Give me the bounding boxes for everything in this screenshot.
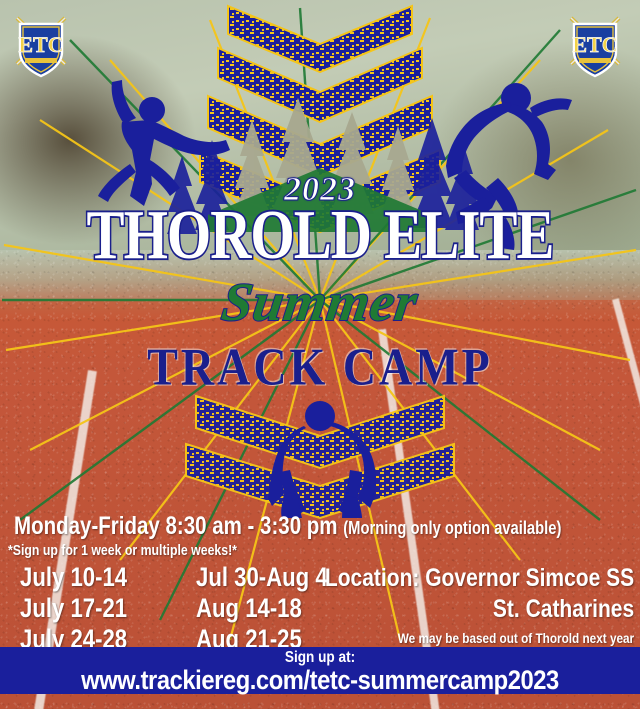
location-line-1: Location: Governor Simcoe SS [325, 564, 634, 593]
camp-hours-line: Monday-Friday 8:30 am - 3:30 pm (Morning… [14, 512, 561, 541]
logo-initials: ETC [18, 32, 63, 57]
script-word-summer: Summer [0, 271, 640, 333]
title-block: 2023 THOROLD ELITE Summer TRACK CAMP [0, 155, 640, 405]
shield-icon: ETC [17, 18, 65, 76]
signup-weeks-note: *Sign up for 1 week or multiple weeks!* [8, 542, 237, 559]
starting-block-sprinter-silhouette [268, 401, 376, 518]
signup-url-link[interactable]: www.trackiereg.com/tetc-summercamp2023 [38, 666, 601, 694]
club-logo-left: ETC [8, 8, 74, 80]
logo-initials: ETC [572, 32, 617, 57]
date-item: July 17-21 [20, 595, 127, 622]
dates-column-july: July 10-14 July 17-21 July 24-28 [20, 564, 127, 657]
info-section: Monday-Friday 8:30 am - 3:30 pm (Morning… [0, 512, 640, 640]
location-line-2: St. Catharines [325, 595, 634, 624]
signup-bar: Sign up at: www.trackiereg.com/tetc-summ… [0, 647, 640, 694]
camp-hours-text: Monday-Friday 8:30 am - 3:30 pm [14, 512, 338, 540]
date-item: July 10-14 [20, 564, 127, 591]
location-block: Location: Governor Simcoe SS St. Cathari… [266, 564, 634, 646]
page-title: THOROLD ELITE [0, 201, 640, 271]
signup-label: Sign up at: [48, 647, 592, 666]
location-note: We may be based out of Thorold next year [325, 630, 634, 646]
shield-icon: ETC [571, 18, 619, 76]
sub-title-track-camp: TRACK CAMP [0, 336, 640, 397]
poster-canvas: ETC ETC 2023 THOROLD ELITE Summer TRACK … [0, 0, 640, 709]
camp-hours-note: (Morning only option available) [343, 518, 561, 538]
club-logo-right: ETC [562, 8, 628, 80]
